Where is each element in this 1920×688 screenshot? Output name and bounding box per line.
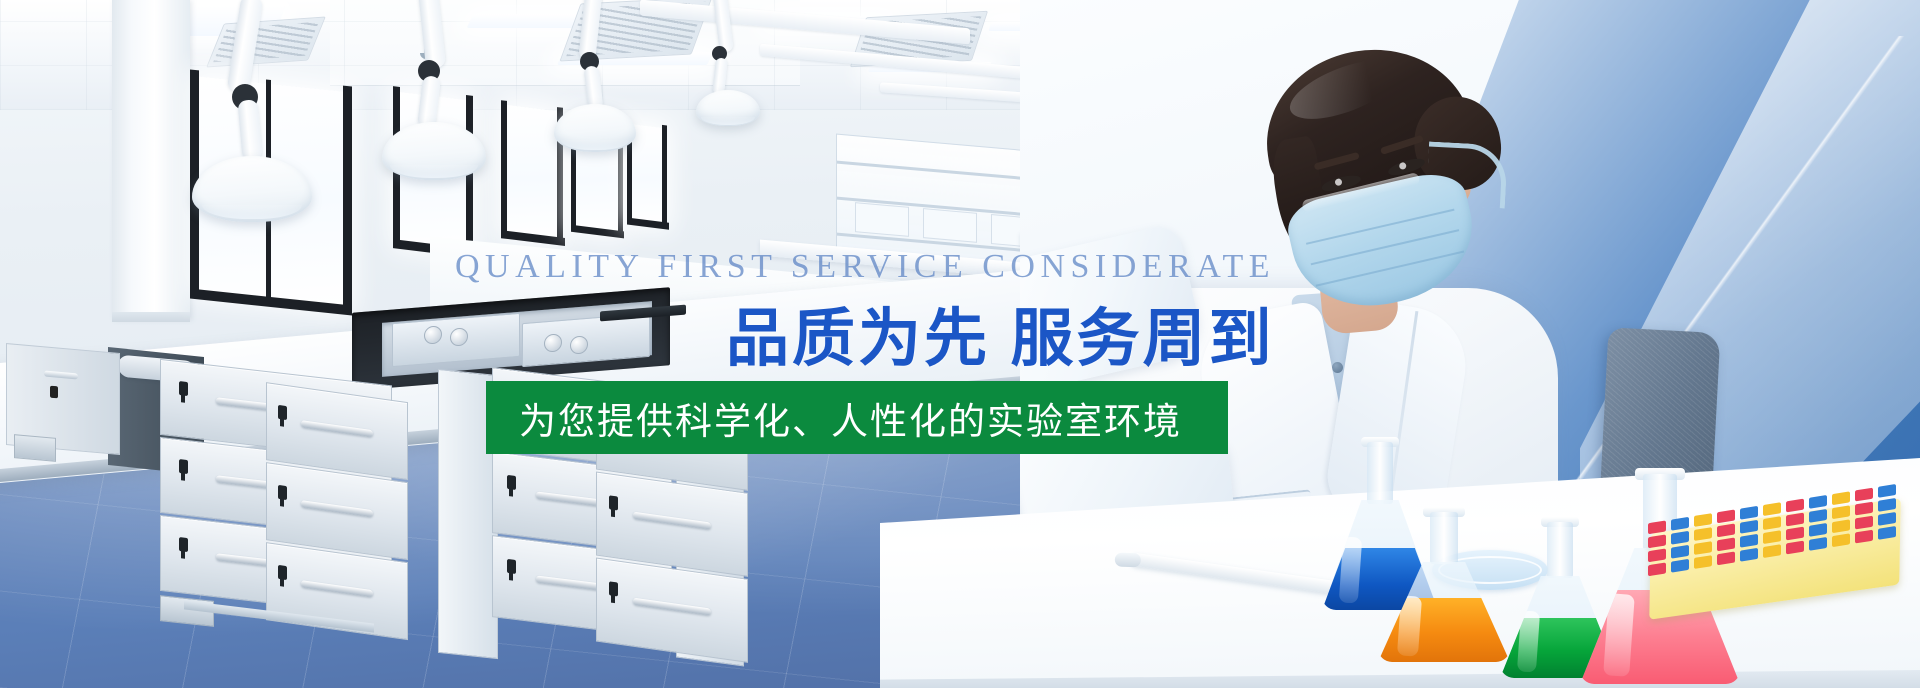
structural-column: [112, 0, 190, 320]
tagline-english: QUALITY FIRST SERVICE CONSIDERATE: [455, 248, 1095, 286]
headline-chinese: 品质为先 服务周到: [726, 288, 1275, 379]
pipette-tip-icon: [1855, 488, 1873, 502]
pipette-tip-column: [1786, 499, 1804, 555]
cabinet-lock-icon: [50, 386, 58, 399]
pipette-tip-column: [1809, 495, 1827, 551]
pipette-tip-icon: [1855, 502, 1873, 516]
pipette-tip-icon: [1878, 484, 1896, 498]
pipette-tip-icon: [1763, 530, 1781, 544]
pipette-tip-icon: [1832, 519, 1850, 533]
pipette-tip-icon: [1671, 517, 1689, 531]
pipette-tip-column: [1648, 520, 1666, 576]
pipette-tip-column: [1717, 509, 1735, 565]
pipette-tip-icon: [1786, 499, 1804, 513]
pipette-tip-column: [1878, 484, 1896, 540]
pipette-tip-icon: [1740, 506, 1758, 520]
head: [1259, 42, 1489, 304]
subtitle-banner: 为您提供科学化、人性化的实验室环境: [486, 381, 1228, 454]
pipette-tip-icon: [1648, 548, 1666, 562]
pipette-tip-icon: [1809, 509, 1827, 523]
pipette-tip-icon: [1832, 491, 1850, 505]
pipette-tip-column: [1694, 513, 1712, 569]
cabinet-plinth: [14, 434, 56, 462]
pipette-tip-column: [1832, 491, 1850, 547]
pipette-tip-icon: [1671, 531, 1689, 545]
pipette-tip-icon: [1671, 545, 1689, 559]
pipette-tip-icon: [1694, 513, 1712, 527]
pipette-tip-icon: [1832, 505, 1850, 519]
shirt-button-icon: [1332, 362, 1343, 373]
pipette-tip-icon: [1740, 520, 1758, 534]
pipette-tip-column: [1855, 488, 1873, 544]
window: [630, 124, 664, 224]
pipette-tip-icon: [1763, 516, 1781, 530]
pipette-tip-icon: [1878, 512, 1896, 526]
pipette-tip-icon: [1763, 502, 1781, 516]
pipette-tip-icon: [1694, 527, 1712, 541]
promo-banner: Q: [0, 0, 1920, 688]
pipette-tip-icon: [1717, 523, 1735, 537]
pipette-tip-icon: [1855, 516, 1873, 530]
pipette-tip-column: [1763, 502, 1781, 558]
pipette-tip-column: [1671, 517, 1689, 573]
pipette-tip-icon: [1878, 498, 1896, 512]
window: [505, 105, 559, 240]
pipette-tip-icon: [1648, 534, 1666, 548]
pipette-tip-icon: [1786, 527, 1804, 541]
pipette-tip-icon: [1809, 495, 1827, 509]
pipette-tip-icon: [1648, 520, 1666, 534]
subtitle-chinese: 为您提供科学化、人性化的实验室环境: [486, 391, 1182, 445]
drawer-bank: [266, 382, 406, 638]
pipette-tip-column: [1740, 506, 1758, 562]
pipette-tip-icon: [1809, 523, 1827, 537]
pipette-tip-icon: [1786, 513, 1804, 527]
erlenmeyer-flask-orange: [1378, 512, 1510, 662]
pipette-tip-icon: [1740, 534, 1758, 548]
pipette-tip-icon: [1694, 541, 1712, 555]
pipette-tip-icon: [1717, 509, 1735, 523]
pipette-tip-icon: [1717, 537, 1735, 551]
